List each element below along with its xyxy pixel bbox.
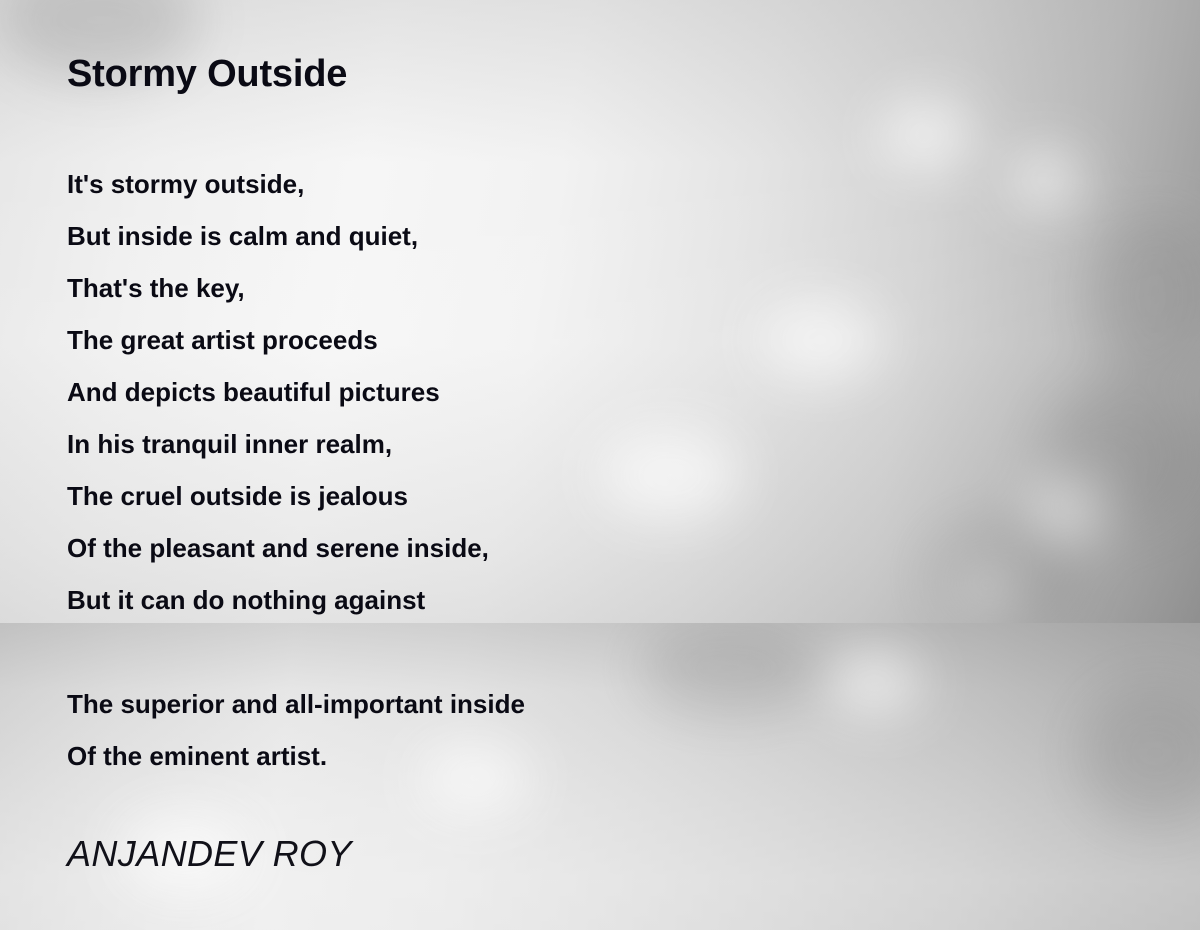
poem-line: It's stormy outside,	[67, 158, 489, 210]
poem-line: In his tranquil inner realm,	[67, 418, 489, 470]
poem-image-card: Stormy Outside It's stormy outside, But …	[0, 0, 1200, 930]
poem-stanza-one: It's stormy outside, But inside is calm …	[67, 158, 489, 626]
poem-stanza-two: The superior and all-important inside Of…	[67, 678, 525, 782]
poem-line: Of the pleasant and serene inside,	[67, 522, 489, 574]
poem-line: That's the key,	[67, 262, 489, 314]
poem-title: Stormy Outside	[67, 52, 347, 96]
poem-line: But it can do nothing against	[67, 574, 489, 626]
poem-line: And depicts beautiful pictures	[67, 366, 489, 418]
poem-line: Of the eminent artist.	[67, 730, 525, 782]
poem-line: The superior and all-important inside	[67, 678, 525, 730]
poem-author-signature: ANJANDEV ROY	[67, 832, 352, 876]
poem-line: The great artist proceeds	[67, 314, 489, 366]
poem-line: The cruel outside is jealous	[67, 470, 489, 522]
poem-line: But inside is calm and quiet,	[67, 210, 489, 262]
